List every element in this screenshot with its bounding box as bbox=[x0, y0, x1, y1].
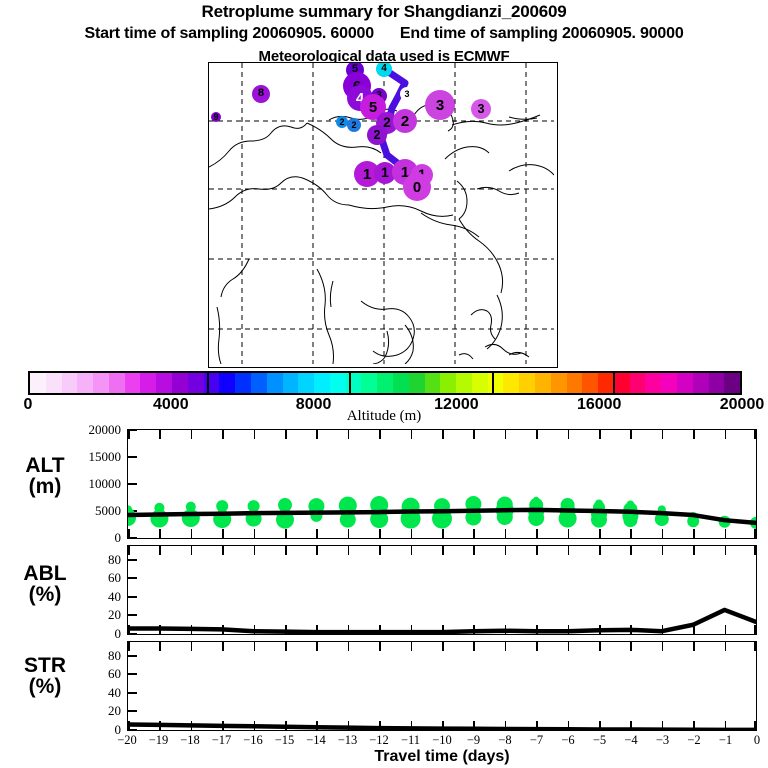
x-tick-label: −18 bbox=[180, 733, 200, 748]
x-tick-label: −12 bbox=[369, 733, 389, 748]
plot-canvas bbox=[128, 546, 756, 634]
colorbar-separator bbox=[492, 371, 494, 395]
colorbar-tick-label: 0 bbox=[24, 396, 33, 414]
colorbar-swatch bbox=[488, 373, 504, 393]
colorbar-swatch bbox=[409, 373, 425, 393]
colorbar-swatch bbox=[30, 373, 46, 393]
colorbar-swatch bbox=[645, 373, 661, 393]
y-tick-label: 10000 bbox=[89, 476, 122, 492]
colorbar-swatch bbox=[235, 373, 251, 393]
colorbar-swatch bbox=[219, 373, 235, 393]
colorbar-separator bbox=[207, 371, 209, 395]
x-tick-label: −7 bbox=[530, 733, 543, 748]
colorbar-gradient bbox=[28, 371, 742, 395]
colorbar-swatch bbox=[125, 373, 141, 393]
x-tick-label: −4 bbox=[624, 733, 637, 748]
colorbar-tick-label: 8000 bbox=[296, 396, 332, 414]
colorbar-swatch bbox=[62, 373, 78, 393]
x-tick-label: −6 bbox=[561, 733, 574, 748]
alt-panel-label: ALT (m) bbox=[6, 455, 84, 498]
str-panel-label: STR (%) bbox=[6, 655, 84, 698]
abl-chart-panel[interactable]: 020406080 bbox=[127, 545, 757, 635]
colorbar-swatch bbox=[630, 373, 646, 393]
y-tick-label: 80 bbox=[108, 648, 121, 664]
str-label-line2: (%) bbox=[6, 676, 84, 697]
colorbar-swatch bbox=[283, 373, 299, 393]
str-label-line1: STR bbox=[6, 655, 84, 676]
colorbar-swatch bbox=[693, 373, 709, 393]
trajectory-marker[interactable]: 2 bbox=[347, 118, 361, 132]
alt-chart-panel[interactable]: 05000100001500020000 bbox=[127, 429, 757, 539]
colorbar-swatch bbox=[109, 373, 125, 393]
y-tick-label: 80 bbox=[108, 552, 121, 568]
abl-label-line2: (%) bbox=[6, 584, 84, 605]
colorbar-swatch bbox=[582, 373, 598, 393]
colorbar-swatch bbox=[172, 373, 188, 393]
colorbar-swatch bbox=[267, 373, 283, 393]
x-tick-label: −15 bbox=[275, 733, 295, 748]
colorbar-swatch bbox=[314, 373, 330, 393]
str-chart-panel[interactable]: 020406080 bbox=[127, 641, 757, 731]
x-tick-label: −9 bbox=[467, 733, 480, 748]
colorbar-swatch bbox=[330, 373, 346, 393]
start-time-label: Start time of sampling 20060905. 60000 bbox=[84, 25, 373, 42]
colorbar-swatch bbox=[456, 373, 472, 393]
colorbar-swatch bbox=[535, 373, 551, 393]
colorbar-swatch bbox=[140, 373, 156, 393]
colorbar-swatch bbox=[361, 373, 377, 393]
x-axis-title: Travel time (days) bbox=[127, 748, 757, 766]
colorbar-swatch bbox=[661, 373, 677, 393]
colorbar-swatch bbox=[614, 373, 630, 393]
x-tick-label: −14 bbox=[306, 733, 326, 748]
x-tick-label: −20 bbox=[117, 733, 137, 748]
y-tick-label: 40 bbox=[108, 589, 121, 605]
y-tick-label: 20 bbox=[108, 703, 121, 719]
alt-scatter-point bbox=[528, 510, 544, 526]
x-tick-label: −10 bbox=[432, 733, 452, 748]
trajectory-marker[interactable]: 3 bbox=[471, 99, 491, 119]
x-tick-label: −8 bbox=[498, 733, 511, 748]
colorbar-separator bbox=[349, 371, 351, 395]
x-tick-label: −11 bbox=[401, 733, 420, 748]
colorbar-swatch bbox=[425, 373, 441, 393]
page-title: Retroplume summary for Shangdianzi_20060… bbox=[0, 2, 768, 22]
colorbar-swatch bbox=[156, 373, 172, 393]
trajectory-marker[interactable]: 9 bbox=[211, 112, 221, 122]
y-tick-label: 0 bbox=[115, 626, 122, 642]
x-tick-label: −5 bbox=[593, 733, 606, 748]
plot-canvas bbox=[128, 430, 756, 538]
y-tick-label: 60 bbox=[108, 570, 121, 586]
trajectory-marker[interactable]: 8 bbox=[252, 85, 270, 103]
colorbar-swatch bbox=[503, 373, 519, 393]
colorbar-swatch bbox=[677, 373, 693, 393]
trajectory-map[interactable]: 895644353332222211110 bbox=[208, 62, 558, 368]
colorbar-swatch bbox=[298, 373, 314, 393]
y-tick-label: 60 bbox=[108, 666, 121, 682]
alt-label-line2: (m) bbox=[6, 476, 84, 497]
y-tick-label: 20000 bbox=[89, 422, 122, 438]
colorbar-swatch bbox=[598, 373, 614, 393]
colorbar-swatch bbox=[440, 373, 456, 393]
trajectory-marker[interactable]: 2 bbox=[393, 109, 417, 133]
colorbar-swatch bbox=[724, 373, 740, 393]
y-tick-label: 20 bbox=[108, 607, 121, 623]
y-tick-label: 40 bbox=[108, 685, 121, 701]
alt-scatter-point bbox=[128, 510, 136, 526]
trajectory-marker[interactable]: 2 bbox=[367, 125, 387, 145]
x-tick-label: −3 bbox=[656, 733, 669, 748]
colorbar-swatch bbox=[377, 373, 393, 393]
colorbar-swatch bbox=[567, 373, 583, 393]
abl-panel-label: ABL (%) bbox=[6, 563, 84, 606]
altitude-colorbar bbox=[28, 371, 742, 395]
colorbar-swatch bbox=[393, 373, 409, 393]
plot-canvas bbox=[128, 642, 756, 730]
alt-scatter-point bbox=[623, 513, 637, 527]
colorbar-tick-label: 20000 bbox=[720, 396, 765, 414]
mean-trend-line bbox=[128, 724, 756, 729]
end-time-label: End time of sampling 20060905. 90000 bbox=[400, 25, 684, 42]
mean-trend-line bbox=[128, 610, 756, 632]
x-tick-label: −13 bbox=[338, 733, 358, 748]
colorbar-swatch bbox=[519, 373, 535, 393]
y-tick-label: 0 bbox=[115, 530, 122, 546]
colorbar-tick-label: 4000 bbox=[153, 396, 189, 414]
sampling-time-row: Start time of sampling 20060905. 60000En… bbox=[0, 25, 768, 43]
alt-label-line1: ALT bbox=[6, 455, 84, 476]
x-tick-label: −17 bbox=[212, 733, 232, 748]
abl-label-line1: ABL bbox=[6, 563, 84, 584]
colorbar-swatch bbox=[46, 373, 62, 393]
x-tick-label: −16 bbox=[243, 733, 263, 748]
y-tick-label: 5000 bbox=[95, 503, 121, 519]
colorbar-swatch bbox=[77, 373, 93, 393]
x-tick-label: −1 bbox=[719, 733, 732, 748]
colorbar-swatch bbox=[709, 373, 725, 393]
y-tick-label: 15000 bbox=[89, 449, 122, 465]
colorbar-swatch bbox=[251, 373, 267, 393]
x-tick-label: −2 bbox=[687, 733, 700, 748]
colorbar-swatch bbox=[188, 373, 204, 393]
colorbar-swatch bbox=[346, 373, 362, 393]
alt-scatter-point bbox=[591, 512, 607, 528]
colorbar-swatch bbox=[472, 373, 488, 393]
colorbar-tick-label: 16000 bbox=[577, 396, 622, 414]
colorbar-swatch bbox=[551, 373, 567, 393]
colorbar-swatch bbox=[93, 373, 109, 393]
trajectory-marker[interactable]: 0 bbox=[403, 173, 431, 201]
x-tick-label: −19 bbox=[149, 733, 169, 748]
trajectory-marker[interactable]: 3 bbox=[425, 90, 455, 120]
trajectory-marker[interactable]: 3 bbox=[400, 87, 414, 101]
x-tick-label: 0 bbox=[754, 733, 760, 748]
colorbar-tick-label: 12000 bbox=[434, 396, 479, 414]
colorbar-separator bbox=[613, 371, 615, 395]
